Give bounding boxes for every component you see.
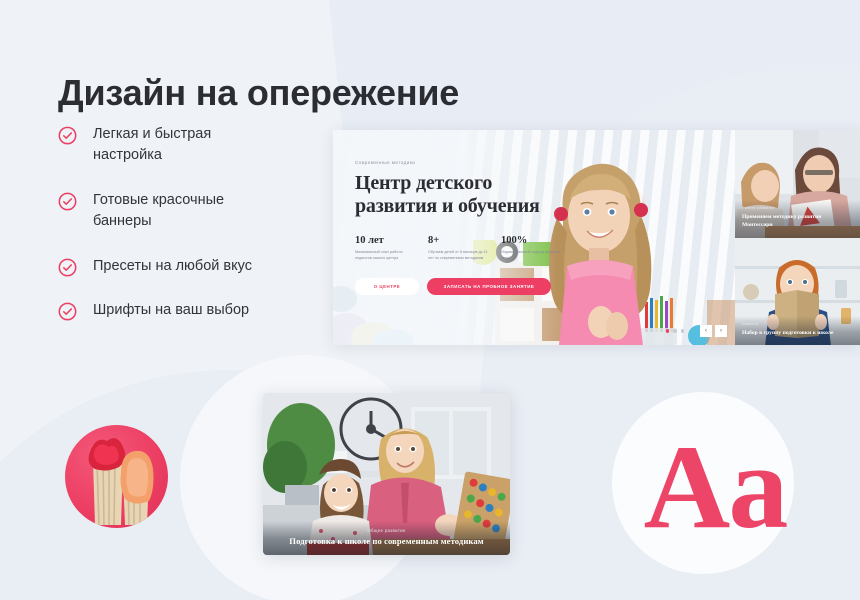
carousel-controls: ‹ ›	[666, 325, 728, 337]
hero-stats: 10 лет Минимальный опыт работы педагогов…	[355, 235, 575, 262]
side-card-caption: Новости Набор в группу подготовки к школ…	[735, 316, 860, 345]
carousel-dots	[666, 329, 689, 333]
side-card-caption: Раннее развитие Применяем методику разви…	[735, 200, 860, 237]
stat-description: Минимальный опыт работы педагогов нашего…	[355, 249, 418, 262]
circle-check-icon	[58, 302, 77, 321]
carousel-prev-button[interactable]: ‹	[700, 325, 712, 337]
feature-label: Шрифты на ваш выбор	[93, 300, 249, 321]
hero-button-group: О ЦЕНТРЕ ЗАПИСАТЬ НА ПРОБНОЕ ЗАНЯТИЕ	[355, 278, 551, 295]
stat-value: 100%	[501, 235, 564, 246]
side-card-title: Применяем методику развития Монтессори	[742, 213, 853, 229]
carousel-dot-3[interactable]	[681, 329, 685, 333]
stat-description: Обучаем детей от 8 месяцев до 11 лет по …	[428, 249, 491, 262]
side-card-montessori[interactable]: Раннее развитие Применяем методику разви…	[735, 130, 860, 238]
promo-card-eyebrow: Общее развитие	[273, 528, 500, 533]
website-showcase-preview: Современные методики Центр детского разв…	[333, 130, 860, 345]
feature-label: Легкая и быстрая настройка	[93, 124, 253, 167]
hero-banner: Современные методики Центр детского разв…	[333, 130, 735, 345]
carousel-dot-2[interactable]	[673, 329, 677, 333]
stat-item: 8+ Обучаем детей от 8 месяцев до 11 лет …	[428, 235, 491, 262]
about-center-button[interactable]: О ЦЕНТРЕ	[355, 278, 419, 295]
typography-sample: Aa	[612, 392, 794, 574]
list-item: Шрифты на ваш выбор	[58, 300, 298, 321]
typography-glyphs: Aa	[644, 427, 787, 547]
carousel-dot-1[interactable]	[666, 329, 670, 333]
feature-label: Готовые красочные баннеры	[93, 190, 253, 233]
list-item: Легкая и быстрая настройка	[58, 124, 298, 167]
stat-value: 8+	[428, 235, 491, 246]
book-trial-lesson-button[interactable]: ЗАПИСАТЬ НА ПРОБНОЕ ЗАНЯТИЕ	[427, 278, 551, 295]
promo-card-title: Подготовка к школе по современным методи…	[273, 536, 500, 546]
side-card-title: Набор в группу подготовки к школе	[742, 329, 853, 337]
hero-text-block: Современные методики Центр детского разв…	[355, 160, 555, 218]
stat-item: 10 лет Минимальный опыт работы педагогов…	[355, 235, 418, 262]
stat-item: 100% Индивидуальный подход развития дете…	[501, 235, 564, 262]
page-title: Дизайн на опережение	[58, 72, 459, 114]
carousel-next-button[interactable]: ›	[715, 325, 727, 337]
feature-label: Пресеты на любой вкус	[93, 256, 252, 277]
side-card-eyebrow: Раннее развитие	[742, 206, 853, 210]
side-card-school-group[interactable]: Новости Набор в группу подготовки к школ…	[735, 238, 860, 346]
hero-eyebrow: Современные методики	[355, 160, 555, 165]
hero-heading: Центр детского развития и обучения	[355, 172, 555, 218]
circle-check-icon	[58, 126, 77, 145]
promo-card-caption: Общее развитие Подготовка к школе по сов…	[263, 521, 510, 555]
stat-value: 10 лет	[355, 235, 418, 246]
list-item: Готовые красочные баннеры	[58, 190, 298, 233]
circle-check-icon	[58, 258, 77, 277]
feature-list: Легкая и быстрая настройка Готовые красо…	[58, 124, 298, 345]
promo-card-school-prep[interactable]: Общее развитие Подготовка к школе по сов…	[263, 393, 510, 555]
list-item: Пресеты на любой вкус	[58, 256, 298, 277]
stat-description: Индивидуальный подход развития детей	[501, 249, 564, 262]
paint-brushes-badge	[65, 425, 168, 528]
showcase-side-column: Раннее развитие Применяем методику разви…	[735, 130, 860, 345]
circle-check-icon	[58, 192, 77, 211]
side-card-eyebrow: Новости	[742, 322, 853, 326]
